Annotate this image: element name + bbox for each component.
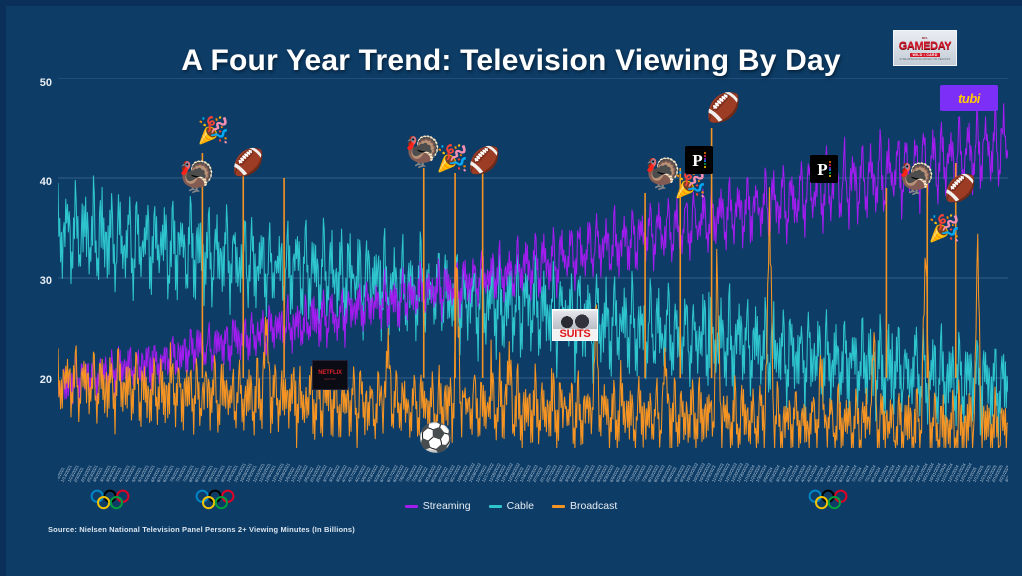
peacock-feather-dots [704, 152, 706, 168]
suits-wordmark: SUITS [553, 329, 597, 340]
legend-label: Broadcast [570, 500, 617, 512]
turkey-icon: 🦃 [898, 165, 935, 195]
legend-swatch-broadcast [552, 505, 565, 508]
gameday-main-text: GAMEDAY [899, 41, 951, 52]
olympic-rings-icon [90, 489, 134, 516]
series-line-streaming [58, 104, 1008, 405]
gameday-foot-text: STREAMING EXCLUSIVELY ON PEACOCK [900, 58, 951, 61]
peacock-logo: P [810, 155, 838, 183]
football-icon: 🏈 [468, 148, 500, 174]
soccer-ball-icon: ⚽ [418, 424, 453, 452]
tubi-logo: tubi [940, 85, 998, 111]
peacock-feather-dots [829, 161, 831, 177]
y-axis-tick: 30 [22, 275, 52, 287]
page-title: A Four Year Trend: Television Viewing By… [0, 44, 1022, 78]
legend-label: Streaming [423, 500, 471, 512]
turkey-icon: 🦃 [178, 163, 215, 193]
legend-item-broadcast[interactable]: Broadcast [552, 500, 617, 512]
y-axis-tick: 50 [22, 77, 52, 89]
party-popper-icon: 🎉 [436, 146, 468, 172]
legend-swatch-cable [489, 505, 502, 508]
olympic-rings-icon [195, 489, 239, 516]
tubi-wordmark: tubi [958, 91, 980, 106]
party-popper-icon: 🎉 [674, 172, 706, 198]
football-icon: 🏈 [944, 176, 976, 202]
suits-show-logo: SUITS [552, 309, 598, 341]
chart-legend: StreamingCableBroadcast [0, 500, 1022, 512]
football-icon: 🏈 [706, 94, 741, 122]
football-icon: 🏈 [232, 150, 264, 176]
y-axis-tick: 20 [22, 374, 52, 386]
source-note: Source: Nielsen National Television Pane… [48, 525, 355, 534]
nfl-gameday-logo: NFLGAMEDAYWILD • CARDSTREAMING EXCLUSIVE… [893, 30, 957, 66]
peacock-logo: P [685, 146, 713, 174]
peacock-p-letter: P [817, 161, 827, 178]
legend-swatch-streaming [405, 505, 418, 508]
poster-title-text: NETFLIX [318, 370, 342, 376]
peacock-p-letter: P [692, 152, 702, 169]
suits-poster-art [553, 311, 597, 329]
x-axis-labels: 1/3/20211/13/20211/23/20212/3/20212/13/2… [58, 449, 1008, 483]
y-axis-tick: 40 [22, 176, 52, 188]
poster-sub-text: SERIES [324, 377, 336, 381]
gameday-top-text: NFL [922, 36, 928, 40]
party-popper-icon: 🎉 [928, 216, 960, 242]
party-popper-icon: 🎉 [197, 118, 229, 144]
netflix-poster-logo: NETFLIXSERIES [312, 360, 348, 390]
olympic-rings-icon [808, 489, 852, 516]
gameday-sub-text: WILD • CARD [910, 53, 939, 57]
legend-item-streaming[interactable]: Streaming [405, 500, 471, 512]
legend-item-cable[interactable]: Cable [489, 500, 534, 512]
presentation-slide: A Four Year Trend: Television Viewing By… [0, 0, 1022, 576]
legend-label: Cable [507, 500, 534, 512]
